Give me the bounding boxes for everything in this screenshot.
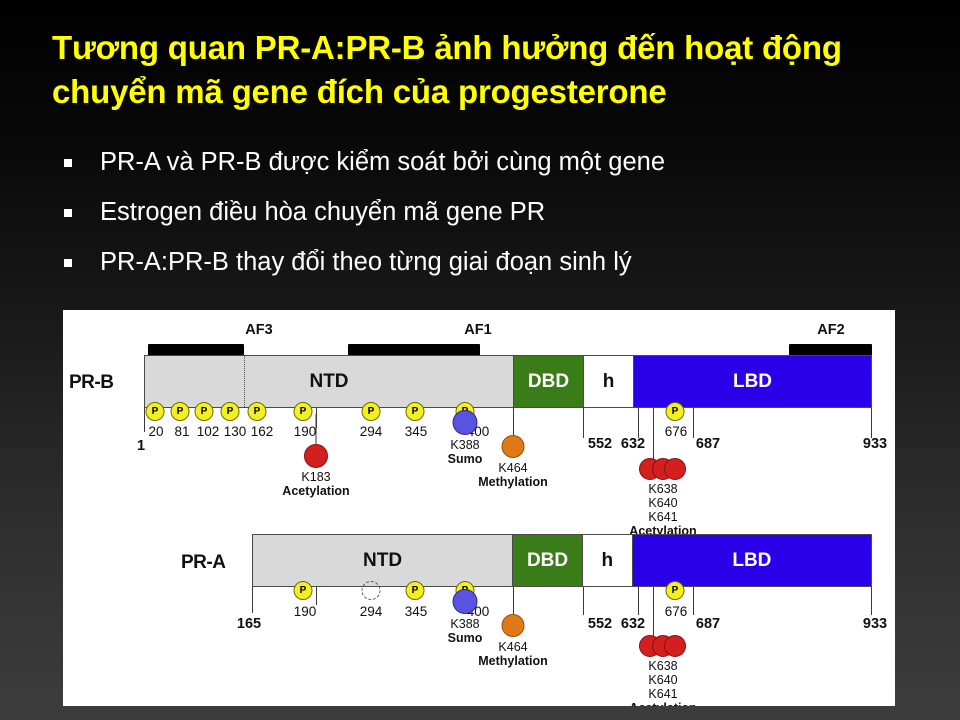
bullet-marker-icon [64,159,72,167]
pos-294: 294 [360,604,383,619]
k388-sumo-dot [453,410,478,435]
domain-dbd: DBD [513,535,583,586]
domain-dbd: DBD [514,356,584,407]
pos-190: 190 [294,424,317,439]
pos-632: 632 [621,616,645,632]
pr-b-label: PR-B [69,372,113,394]
pr-a-label: PR-A [181,552,225,574]
pr-b-panel: AF3 AF1 AF2 NTD DBD h LBD PR-B [63,310,895,522]
k388-sumo-dot [453,589,478,614]
k464-type: Methylation [478,475,547,489]
pos-130: 130 [224,424,247,439]
tick-638 [653,587,654,637]
bullet-marker-icon [64,259,72,267]
k641-acetylation-dot [664,458,686,480]
tick-687 [693,408,694,438]
tick-687 [693,587,694,615]
af2-label: AF2 [817,322,844,338]
pos-102: 102 [197,424,220,439]
pos-20: 20 [148,424,163,439]
bullet-text: PR-A:PR-B thay đổi theo từng giai đoạn s… [100,248,632,276]
domain-ntd-label: NTD [309,371,348,393]
k638-641-label: K638 K640 K641 Acetylation [629,659,696,706]
phospho-162: P [248,402,267,421]
k464-methylation-dot [502,614,525,637]
pos-933: 933 [863,436,887,452]
pos-162: 162 [251,424,274,439]
bullet-text: Estrogen điều hòa chuyển mã gene PR [100,198,545,226]
phospho-20: P [146,402,165,421]
domain-ntd: NTD [253,535,513,586]
bullet-list: PR-A và PR-B được kiểm soát bởi cùng một… [58,150,908,300]
tick-933 [871,408,872,438]
k464-type: Methylation [478,654,547,668]
pos-1: 1 [137,438,145,454]
pos-933: 933 [863,616,887,632]
list-item: Estrogen điều hòa chuyển mã gene PR [58,200,908,226]
phospho-676: P [666,402,685,421]
k464-label: K464 Methylation [478,640,547,668]
k388-residue: K388 [448,617,483,631]
pos-687: 687 [696,616,720,632]
list-item: PR-A và PR-B được kiểm soát bởi cùng một… [58,150,908,176]
k638-641-type: Acetylation [629,701,696,706]
k388-residue: K388 [448,438,483,452]
phospho-130: P [221,402,240,421]
pos-676: 676 [665,424,688,439]
domain-ntd: NTD [145,356,514,407]
domain-dbd-label: DBD [528,371,569,393]
phospho-102: P [195,402,214,421]
domain-hinge: h [583,535,633,586]
phospho-345: P [406,402,425,421]
tick-632 [638,587,639,615]
k183-stem [316,414,317,446]
bullet-marker-icon [64,209,72,217]
tick-190 [316,587,317,605]
af3-label: AF3 [245,322,272,338]
domain-hinge-label: h [603,371,615,393]
pr-a-panel: NTD DBD h LBD PR-A P P P P P 165 [63,522,895,706]
tick-552 [583,587,584,615]
domain-hinge: h [584,356,634,407]
k183-label: K183 Acetylation [282,470,349,498]
phospho-676: P [666,581,685,600]
pos-345: 345 [405,604,428,619]
k388-label: K388 Sumo [448,617,483,645]
k641-residue: K641 [629,687,696,701]
list-item: PR-A:PR-B thay đổi theo từng giai đoạn s… [58,250,908,276]
k388-label: K388 Sumo [448,438,483,466]
bullet-text: PR-A và PR-B được kiểm soát bởi cùng một… [100,148,665,176]
pr-b-protein-bar: NTD DBD h LBD [144,355,872,408]
domain-lbd-label: LBD [732,550,771,572]
pos-552: 552 [588,616,612,632]
domain-lbd: LBD [633,535,871,586]
ntd-split-divider [244,356,245,407]
pr-a-protein-bar: NTD DBD h LBD [252,534,872,587]
pos-81: 81 [174,424,189,439]
k388-type: Sumo [448,452,483,466]
k464-residue: K464 [478,461,547,475]
k464-residue: K464 [478,640,547,654]
pos-294: 294 [360,424,383,439]
tick-552 [583,408,584,438]
tick-632 [638,408,639,438]
domain-ntd-label: NTD [363,550,402,572]
page-title: Tương quan PR-A:PR-B ảnh hưởng đến hoạt … [52,26,892,114]
phospho-345: P [406,581,425,600]
domain-lbd: LBD [634,356,871,407]
k388-type: Sumo [448,631,483,645]
pos-552: 552 [588,436,612,452]
phospho-294-absent: P [362,581,381,600]
pos-190: 190 [294,604,317,619]
k640-residue: K640 [629,496,696,510]
phospho-190: P [294,402,313,421]
domain-hinge-label: h [602,550,614,572]
domain-lbd-label: LBD [733,371,772,393]
tick-165 [252,587,253,613]
k464-methylation-dot [502,435,525,458]
pos-687: 687 [696,436,720,452]
pos-676: 676 [665,604,688,619]
phospho-294: P [362,402,381,421]
pos-165: 165 [237,616,261,632]
k183-type: Acetylation [282,484,349,498]
k640-residue: K640 [629,673,696,687]
k641-acetylation-dot [664,635,686,657]
pos-632: 632 [621,436,645,452]
tick-638 [653,408,654,463]
k183-acetylation-dot [304,444,328,468]
tick-933 [871,587,872,615]
pos-345: 345 [405,424,428,439]
af1-label: AF1 [464,322,491,338]
domain-dbd-label: DBD [527,550,568,572]
phospho-190: P [294,581,313,600]
k638-residue: K638 [629,659,696,673]
k464-label: K464 Methylation [478,461,547,489]
k638-residue: K638 [629,482,696,496]
pr-isoform-diagram: AF3 AF1 AF2 NTD DBD h LBD PR-B [63,310,895,706]
k183-residue: K183 [282,470,349,484]
phospho-81: P [171,402,190,421]
